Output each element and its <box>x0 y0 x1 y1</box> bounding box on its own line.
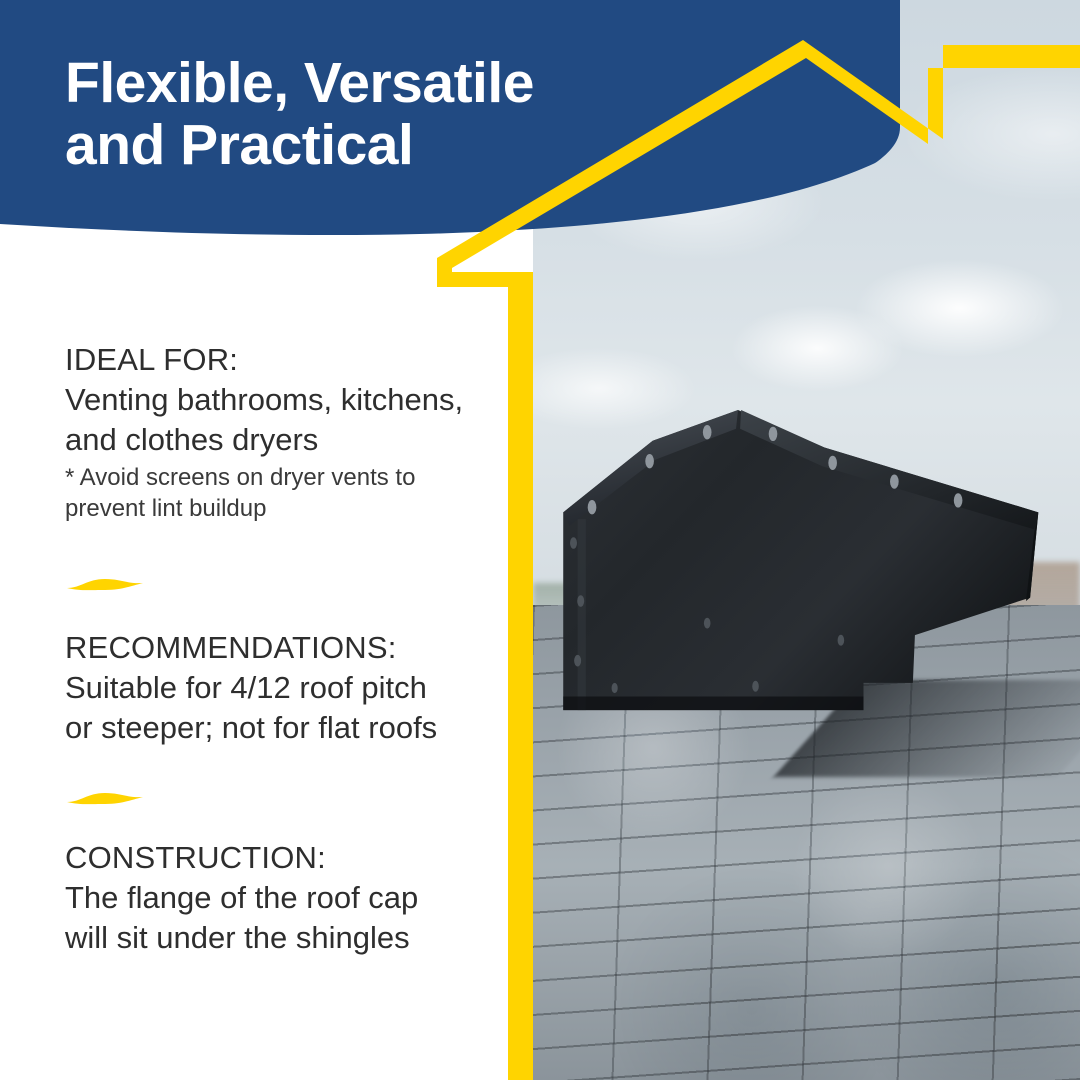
section-heading: RECOMMENDATIONS: <box>65 628 495 668</box>
section-recommendations: RECOMMENDATIONS: Suitable for 4/12 roof … <box>65 628 495 748</box>
section-body: Venting bathrooms, kitchens, and clothes… <box>65 380 495 460</box>
section-ideal-for: IDEAL FOR: Venting bathrooms, kitchens, … <box>65 340 495 524</box>
section-heading: IDEAL FOR: <box>65 340 495 380</box>
roof-vent-cap <box>555 410 1069 734</box>
wave-divider-icon <box>65 788 145 810</box>
section-body: The flange of the roof cap will sit unde… <box>65 878 495 958</box>
section-heading: CONSTRUCTION: <box>65 838 495 878</box>
section-footnote: * Avoid screens on dryer vents to preven… <box>65 462 495 524</box>
wave-divider-icon <box>65 574 145 596</box>
section-construction: CONSTRUCTION: The flange of the roof cap… <box>65 838 495 958</box>
infographic-canvas: Flexible, Versatile and Practical IDEAL … <box>0 0 1080 1080</box>
page-title: Flexible, Versatile and Practical <box>65 52 585 176</box>
section-body: Suitable for 4/12 roof pitch or steeper;… <box>65 668 495 748</box>
